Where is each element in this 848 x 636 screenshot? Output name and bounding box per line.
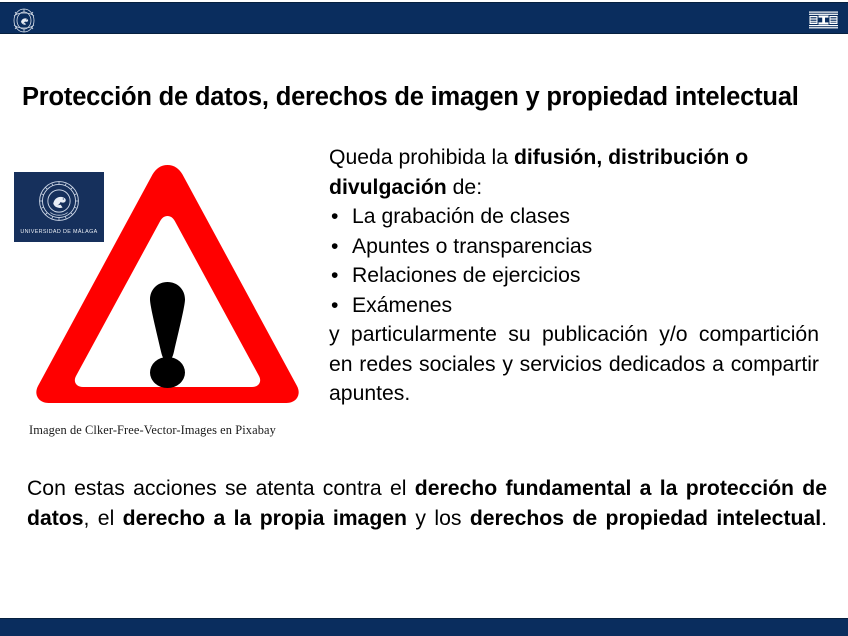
list-item: •Exámenes bbox=[329, 291, 819, 321]
footer-text-part-4: . bbox=[821, 507, 827, 530]
footer-bold-2: derecho a la propia imagen bbox=[123, 507, 407, 530]
image-credit: Imagen de Clker-Free-Vector-Images en Pi… bbox=[29, 423, 276, 438]
header-bar bbox=[0, 2, 848, 34]
footer-bar bbox=[0, 618, 848, 636]
body-right-column: Queda prohibida la difusión, distribució… bbox=[329, 143, 819, 409]
bullet-icon: • bbox=[331, 291, 338, 321]
slide: Protección de datos, derechos de imagen … bbox=[0, 0, 848, 636]
footer-paragraph: Con estas acciones se atenta contra el d… bbox=[27, 474, 827, 564]
list-item: •La grabación de clases bbox=[329, 202, 819, 232]
footer-text-part-2: , el bbox=[84, 507, 123, 530]
bullet-icon: • bbox=[331, 202, 338, 232]
bullet-icon: • bbox=[331, 232, 338, 262]
tail-paragraph: y particularmente su publicación y/o com… bbox=[329, 320, 819, 409]
lead-text-part-1: Queda prohibida la bbox=[329, 146, 514, 169]
list-item-label: La grabación de clases bbox=[352, 205, 570, 228]
list-item-label: Apuntes o transparencias bbox=[352, 235, 592, 258]
uma-logo-caption: UNIVERSIDAD DE MÁLAGA bbox=[14, 229, 104, 235]
lead-text-part-2: de: bbox=[447, 176, 482, 199]
bullet-icon: • bbox=[331, 261, 338, 291]
etsi-logo-icon bbox=[808, 10, 839, 30]
footer-text-part-1: Con estas acciones se atenta contra el bbox=[27, 477, 415, 500]
prohibited-items-list: •La grabación de clases •Apuntes o trans… bbox=[329, 202, 819, 320]
page-title: Protección de datos, derechos de imagen … bbox=[22, 83, 834, 112]
footer-bold-3: derechos de propiedad intelectual bbox=[470, 507, 821, 530]
list-item-label: Exámenes bbox=[352, 294, 452, 317]
list-item: •Apuntes o transparencias bbox=[329, 232, 819, 262]
uma-logo: UNIVERSIDAD DE MÁLAGA bbox=[14, 172, 104, 242]
uma-dove-seal-icon bbox=[36, 178, 82, 224]
lead-paragraph: Queda prohibida la difusión, distribució… bbox=[329, 143, 819, 202]
list-item-label: Relaciones de ejercicios bbox=[352, 264, 580, 287]
list-item: •Relaciones de ejercicios bbox=[329, 261, 819, 291]
footer-text-part-3: y los bbox=[407, 507, 470, 530]
university-crest-icon bbox=[8, 7, 40, 35]
